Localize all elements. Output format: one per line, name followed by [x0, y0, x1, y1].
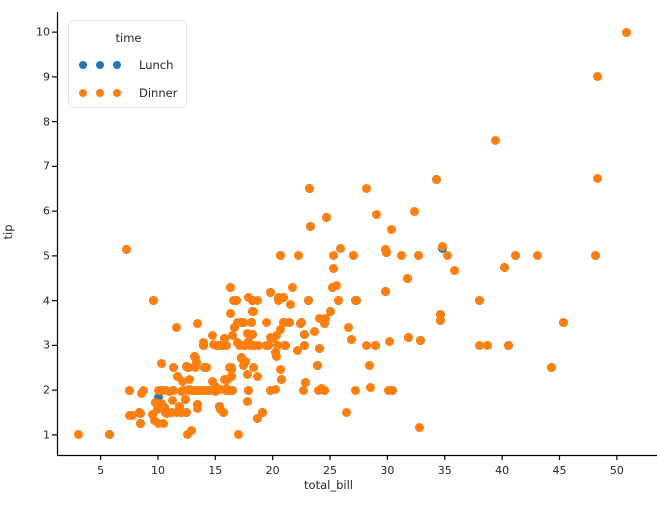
data-point — [385, 337, 394, 346]
data-point — [229, 296, 238, 305]
data-point — [491, 136, 500, 145]
data-point — [226, 309, 235, 318]
data-point — [240, 341, 249, 350]
data-point — [475, 296, 484, 305]
data-point — [105, 430, 114, 439]
data-point — [320, 319, 329, 328]
legend-label-dinner: Dinner — [139, 86, 177, 100]
data-point — [397, 251, 406, 260]
data-point — [253, 414, 262, 423]
data-point — [253, 296, 262, 305]
data-point — [262, 341, 271, 350]
data-point — [362, 184, 371, 193]
data-point — [172, 408, 181, 417]
data-point — [362, 341, 371, 350]
x-tick-label: 45 — [552, 464, 566, 477]
data-point — [219, 408, 228, 417]
data-point — [504, 341, 513, 350]
y-axis-label: tip — [1, 212, 15, 252]
legend-item-dinner[interactable]: Dinner — [76, 83, 188, 103]
data-point — [443, 251, 452, 260]
data-point — [500, 263, 509, 272]
data-point — [322, 213, 331, 222]
data-point — [122, 245, 131, 254]
x-tick-label: 20 — [266, 464, 280, 477]
data-point — [344, 323, 353, 332]
data-point — [306, 222, 315, 231]
data-point — [366, 383, 375, 392]
y-tick-label: 3 — [20, 339, 50, 352]
data-point — [247, 318, 256, 327]
y-tick-label: 9 — [20, 70, 50, 83]
data-point — [243, 370, 252, 379]
data-point — [511, 251, 520, 260]
data-point — [276, 365, 285, 374]
data-point — [315, 344, 324, 353]
data-point — [329, 251, 338, 260]
x-tick-label: 25 — [323, 464, 337, 477]
data-point — [387, 225, 396, 234]
data-point — [136, 419, 145, 428]
data-point — [244, 386, 253, 395]
data-point — [162, 409, 171, 418]
data-point — [293, 346, 302, 355]
data-point — [349, 251, 358, 260]
data-point — [328, 283, 337, 292]
data-point — [254, 341, 263, 350]
x-tick-label: 5 — [97, 464, 104, 477]
data-point — [208, 377, 217, 386]
data-point — [294, 251, 303, 260]
y-tick-label: 5 — [20, 249, 50, 262]
data-point — [217, 341, 226, 350]
data-point — [216, 385, 225, 394]
data-point — [414, 251, 423, 260]
data-point — [74, 430, 83, 439]
data-point — [274, 296, 283, 305]
data-point — [277, 375, 286, 384]
legend-handle-lunch — [76, 61, 133, 69]
data-point — [347, 335, 356, 344]
data-point — [384, 386, 393, 395]
data-point — [300, 330, 309, 339]
data-point — [178, 377, 187, 386]
data-point — [182, 408, 191, 417]
legend-dot-icon — [96, 61, 104, 69]
data-point — [591, 251, 600, 260]
scatter-plot-figure: 12345678910 5101520253035404550 total_bi… — [0, 0, 657, 506]
x-tick-label: 35 — [438, 464, 452, 477]
data-point — [372, 210, 381, 219]
data-point — [248, 330, 257, 339]
legend-dot-icon — [79, 61, 87, 69]
data-point — [199, 341, 208, 350]
data-point — [248, 307, 257, 316]
data-point — [183, 430, 192, 439]
x-tick-label: 10 — [151, 464, 165, 477]
data-point — [410, 207, 419, 216]
data-point — [381, 287, 390, 296]
data-point — [314, 386, 323, 395]
data-point — [329, 264, 338, 273]
data-point — [342, 408, 351, 417]
data-point — [188, 386, 197, 395]
data-point — [205, 386, 214, 395]
data-point — [208, 331, 217, 340]
legend-item-lunch[interactable]: Lunch — [76, 55, 188, 75]
data-point — [288, 283, 297, 292]
data-point — [243, 397, 252, 406]
data-point — [279, 318, 288, 327]
data-point — [351, 386, 360, 395]
x-tick-label: 40 — [495, 464, 509, 477]
legend-dot-icon — [113, 61, 121, 69]
data-point — [266, 288, 275, 297]
data-point — [450, 266, 459, 275]
data-point — [313, 361, 322, 370]
legend-label-lunch: Lunch — [139, 58, 173, 72]
y-tick-label: 8 — [20, 115, 50, 128]
data-point — [404, 333, 413, 342]
y-tick-label: 1 — [20, 428, 50, 441]
data-point — [336, 244, 345, 253]
data-point — [305, 184, 314, 193]
legend-title: time — [69, 31, 188, 45]
data-point — [225, 386, 234, 395]
legend-dot-icon — [79, 89, 87, 97]
data-point — [371, 341, 380, 350]
x-axis-label: total_bill — [0, 478, 657, 492]
data-point — [403, 274, 412, 283]
data-point — [125, 386, 134, 395]
data-point — [299, 386, 308, 395]
data-point — [415, 423, 424, 432]
y-tick-label: 10 — [20, 26, 50, 39]
data-point — [547, 363, 556, 372]
data-point — [296, 319, 305, 328]
data-point — [169, 386, 178, 395]
legend[interactable]: time Lunch Dinner — [68, 20, 187, 108]
data-point — [157, 359, 166, 368]
data-point — [310, 327, 319, 336]
data-point — [249, 363, 258, 372]
legend-dot-icon — [113, 89, 121, 97]
data-point — [227, 372, 236, 381]
data-point — [286, 300, 295, 309]
data-point — [326, 307, 335, 316]
x-tick-label: 30 — [380, 464, 394, 477]
data-point — [137, 389, 146, 398]
data-point — [181, 395, 190, 404]
data-point — [193, 319, 202, 328]
data-point — [172, 323, 181, 332]
data-point — [169, 363, 178, 372]
data-point — [533, 251, 542, 260]
legend-dot-icon — [96, 89, 104, 97]
data-point — [622, 28, 631, 37]
x-tick-label: 50 — [610, 464, 624, 477]
data-point — [352, 296, 361, 305]
data-point — [304, 296, 313, 305]
data-point — [483, 341, 492, 350]
data-point — [237, 353, 246, 362]
data-point — [149, 296, 158, 305]
y-tick-label: 6 — [20, 205, 50, 218]
data-point — [559, 318, 568, 327]
x-tick-label: 15 — [208, 464, 222, 477]
data-point — [365, 361, 374, 370]
data-point — [253, 372, 262, 381]
data-point — [593, 72, 602, 81]
y-tick-label: 7 — [20, 160, 50, 173]
data-point — [151, 398, 160, 407]
data-point — [193, 404, 202, 413]
y-tick-label: 2 — [20, 384, 50, 397]
data-point — [226, 283, 235, 292]
data-point — [276, 251, 285, 260]
data-point — [262, 318, 271, 327]
y-tick-label: 4 — [20, 294, 50, 307]
data-point — [416, 336, 425, 345]
data-point — [593, 174, 602, 183]
data-point — [191, 363, 200, 372]
data-point — [128, 411, 137, 420]
data-point — [234, 430, 243, 439]
data-point — [432, 175, 441, 184]
data-point — [228, 331, 237, 340]
legend-handle-dinner — [76, 89, 133, 97]
data-point — [334, 296, 343, 305]
data-point — [266, 386, 275, 395]
